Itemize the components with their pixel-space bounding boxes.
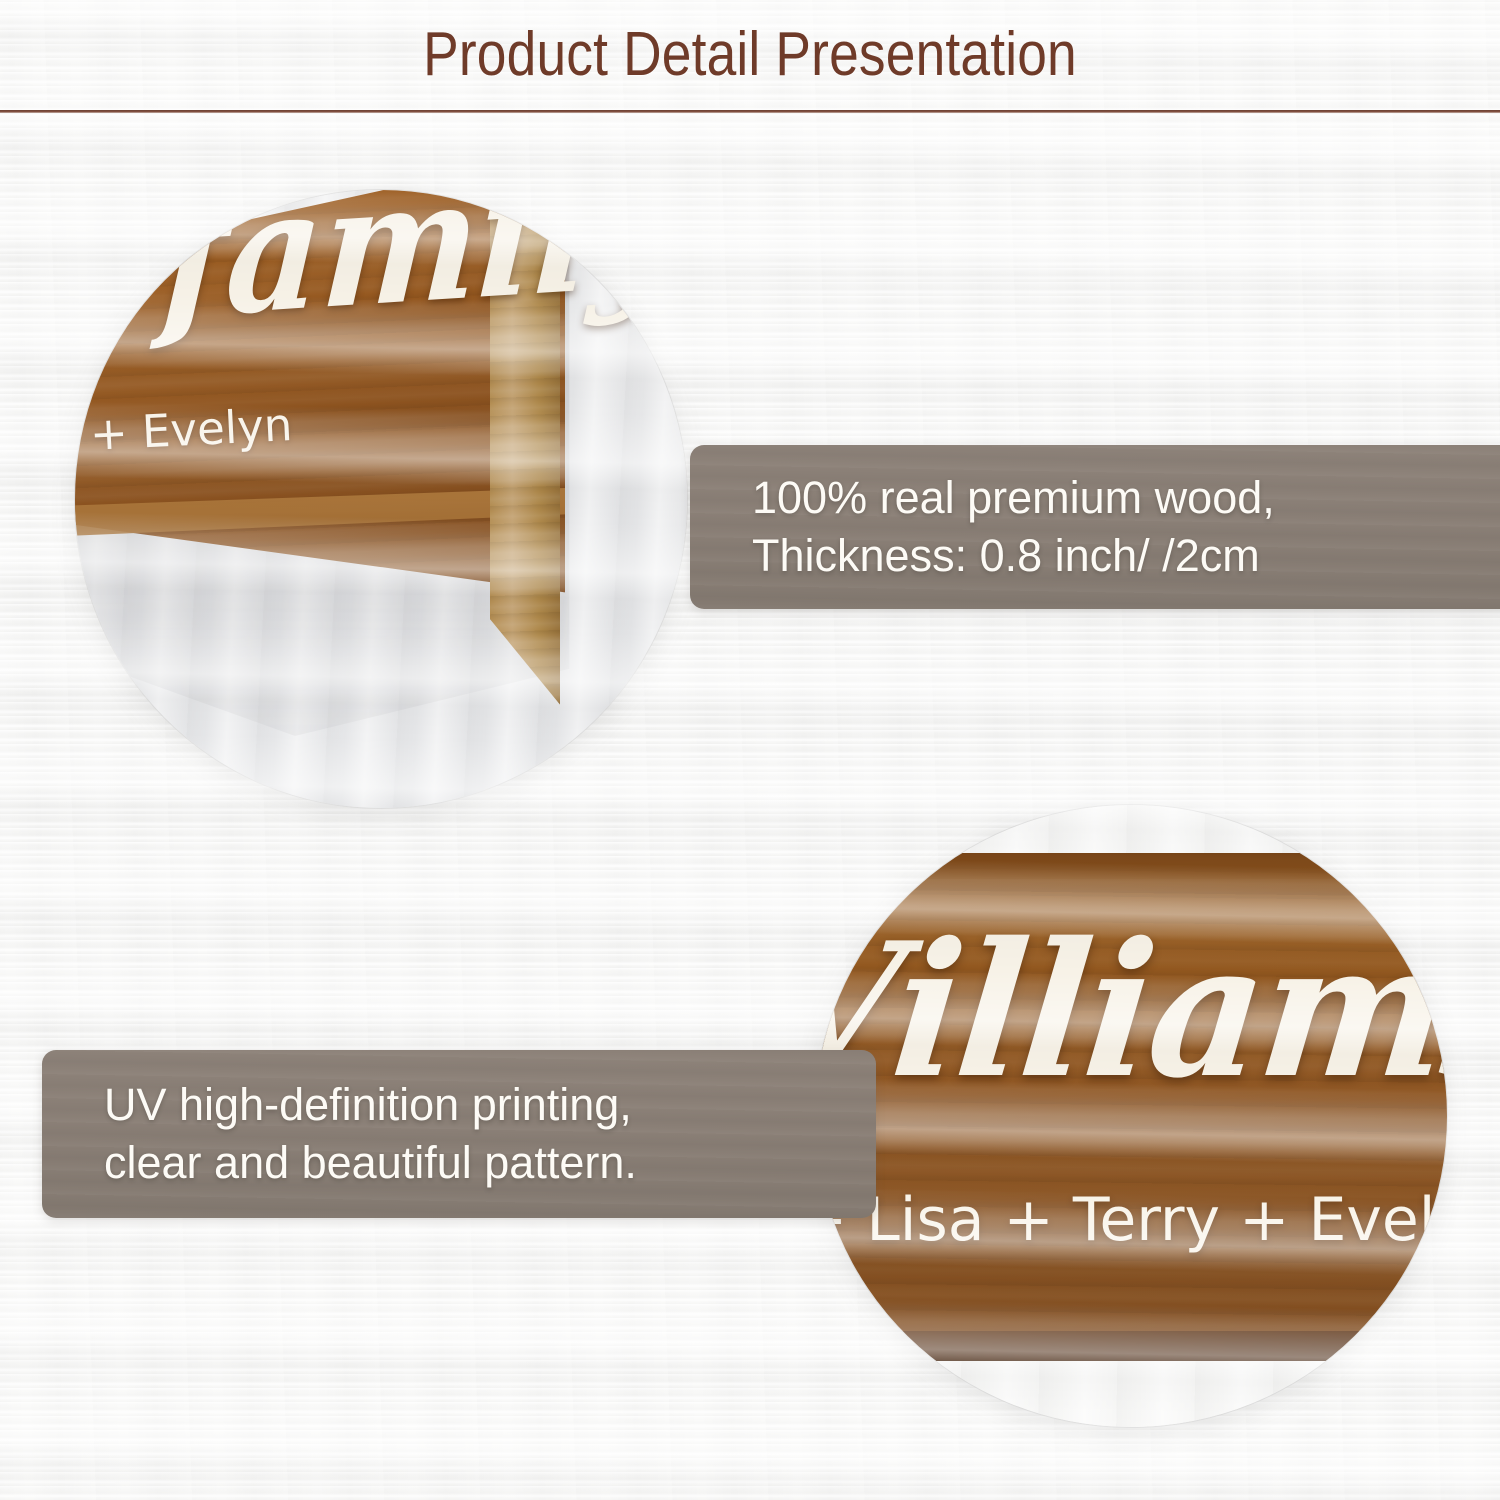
callout-thickness-line-2: Thickness: 0.8 inch/ /2cm [752, 527, 1500, 586]
photo-thickness-closeup: family y + Evelyn [75, 190, 687, 808]
panel-bottom-edge [815, 1331, 1447, 1361]
page-title: Product Detail Presentation [105, 24, 1395, 86]
photo-thickness-inner: family y + Evelyn [75, 190, 687, 808]
callout-printing: UV high-definition printing, clear and b… [42, 1050, 876, 1218]
callout-thickness: 100% real premium wood, Thickness: 0.8 i… [690, 445, 1500, 609]
product-detail-page: Product Detail Presentation family y + E… [0, 0, 1500, 1500]
header-divider [0, 110, 1500, 113]
photo-printing-closeup: Villiams Fa + Lisa + Terry + Evelyn [815, 805, 1447, 1427]
panel-top-grain [815, 853, 1447, 879]
callout-printing-line-2: clear and beautiful pattern. [104, 1134, 876, 1193]
sign-names-text: + Lisa + Terry + Evelyn [815, 1190, 1447, 1250]
sign-script-text: Villiams Fa [815, 919, 1447, 1104]
sign-script-text: family [159, 190, 682, 342]
page-header: Product Detail Presentation [0, 0, 1500, 112]
sign-names-text: y + Evelyn [75, 402, 293, 459]
photo-printing-inner: Villiams Fa + Lisa + Terry + Evelyn [815, 805, 1447, 1427]
callout-printing-line-1: UV high-definition printing, [104, 1076, 876, 1135]
callout-thickness-line-1: 100% real premium wood, [752, 469, 1500, 528]
